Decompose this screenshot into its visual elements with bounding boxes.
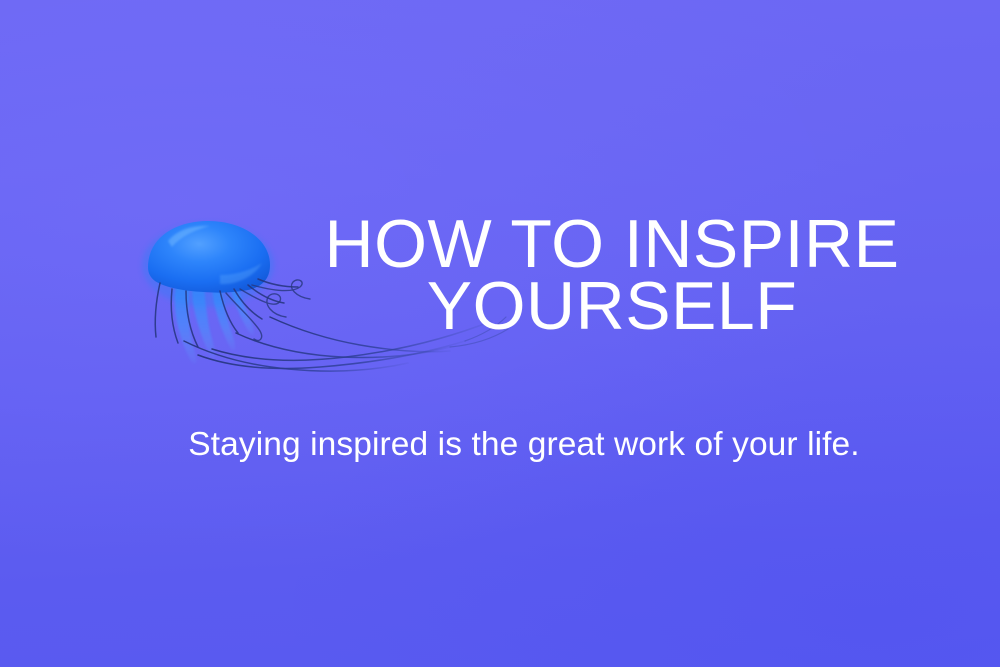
subtitle-text: Staying inspired is the great work of yo… [40, 424, 1000, 466]
page-title: HOW TO INSPIRE YOURSELF [295, 213, 929, 337]
title-line-1: HOW TO INSPIRE [295, 213, 929, 275]
title-line-2: YOURSELF [295, 275, 929, 337]
subtitle-container: Staying inspired is the great work of yo… [40, 424, 1000, 466]
poster: HOW TO INSPIRE YOURSELF Staying inspired… [0, 0, 1000, 667]
